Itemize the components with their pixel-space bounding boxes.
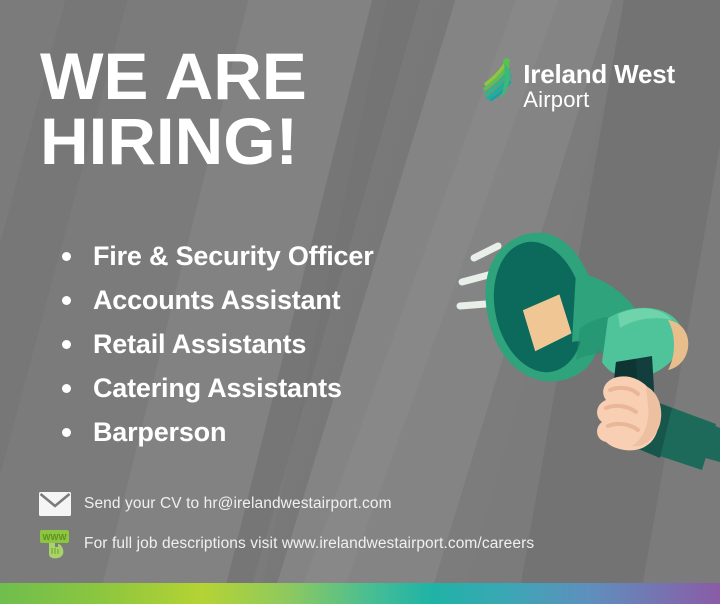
bullet-dot-icon — [62, 384, 71, 393]
envelope-icon — [38, 491, 84, 517]
list-item: Fire & Security Officer — [62, 234, 374, 278]
list-item: Catering Assistants — [62, 366, 374, 410]
swoosh-feather-icon — [482, 57, 516, 101]
svg-text:WWW: WWW — [42, 532, 67, 542]
rainbow-gradient-bar — [0, 583, 720, 604]
headline-line-1: WE ARE — [40, 44, 307, 109]
list-item: Barperson — [62, 410, 374, 454]
headline-line-2: HIRING! — [40, 109, 307, 174]
page-title: WE ARE HIRING! — [40, 44, 302, 173]
job-list: Fire & Security Officer Accounts Assista… — [62, 234, 374, 454]
job-title: Barperson — [93, 417, 226, 448]
job-title: Fire & Security Officer — [93, 241, 374, 272]
job-title: Retail Assistants — [93, 329, 306, 360]
bullet-dot-icon — [62, 340, 71, 349]
bullet-dot-icon — [62, 428, 71, 437]
job-title: Accounts Assistant — [93, 285, 340, 316]
job-title: Catering Assistants — [93, 373, 342, 404]
list-item: Retail Assistants — [62, 322, 374, 366]
brand-name-line-2: Airport — [523, 87, 675, 112]
contact-block: Send your CV to hr@irelandwestairport.co… — [38, 484, 534, 564]
web-contact-row: WWW For full job descriptions visit www.… — [38, 524, 534, 564]
email-contact-text[interactable]: Send your CV to hr@irelandwestairport.co… — [84, 495, 392, 513]
brand-logo-text: Ireland West Airport — [523, 57, 675, 112]
megaphone-in-hand-illustration — [440, 210, 720, 470]
www-click-icon: WWW — [38, 528, 84, 560]
brand-name-line-1: Ireland West — [523, 61, 675, 87]
bullet-dot-icon — [62, 296, 71, 305]
hiring-poster: WE ARE HIRING! Ireland West Airport — [0, 0, 720, 604]
web-contact-text[interactable]: For full job descriptions visit www.irel… — [84, 535, 534, 553]
brand-logo: Ireland West Airport — [482, 57, 675, 112]
list-item: Accounts Assistant — [62, 278, 374, 322]
bullet-dot-icon — [62, 252, 71, 261]
email-contact-row: Send your CV to hr@irelandwestairport.co… — [38, 484, 534, 524]
